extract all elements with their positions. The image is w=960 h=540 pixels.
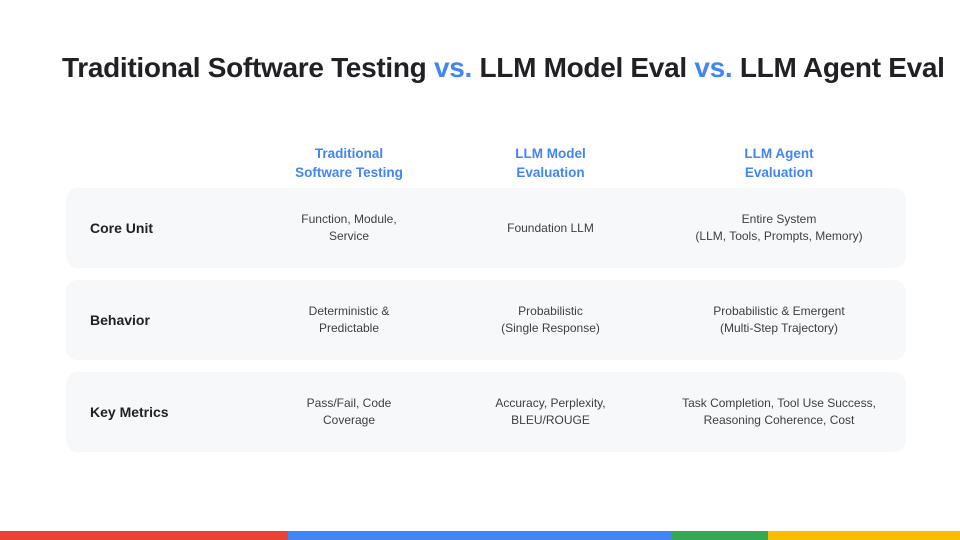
table-header-row: Traditional Software Testing LLM Model E… <box>66 136 906 188</box>
table-row: Core Unit Function, Module, Service Foun… <box>66 188 906 268</box>
column-header-line-1: Traditional <box>315 146 383 161</box>
cell-line-2: (Single Response) <box>449 320 652 337</box>
cell-line-1: Function, Module, <box>301 212 396 226</box>
cell-line-2: BLEU/ROUGE <box>449 412 652 429</box>
brand-color-bar <box>0 531 960 540</box>
column-header-line-2: Evaluation <box>652 163 906 182</box>
title-vs-1: vs. <box>434 52 472 83</box>
column-header-line-1: LLM Model <box>515 146 586 161</box>
cell-line-1: Task Completion, Tool Use Success, <box>682 396 876 410</box>
cell-line-1: Foundation LLM <box>507 221 594 235</box>
cell-line-2: (Multi-Step Trajectory) <box>652 320 906 337</box>
page-title: Traditional Software Testing vs. LLM Mod… <box>62 50 945 86</box>
column-header-llm-model-evaluation: LLM Model Evaluation <box>449 136 652 182</box>
title-part-3: LLM Agent Eval <box>732 52 944 83</box>
cell-line-1: Deterministic & <box>309 304 390 318</box>
cell-line-1: Accuracy, Perplexity, <box>495 396 605 410</box>
cell-line-2: Coverage <box>249 412 449 429</box>
cell-key-metrics-llm-model: Accuracy, Perplexity, BLEU/ROUGE <box>449 395 652 429</box>
cell-line-1: Probabilistic & Emergent <box>713 304 844 318</box>
cell-core-unit-llm-model: Foundation LLM <box>449 220 652 237</box>
row-label-core-unit: Core Unit <box>66 220 249 236</box>
title-vs-2: vs. <box>694 52 732 83</box>
column-header-line-2: Evaluation <box>449 163 652 182</box>
brand-bar-segment-red <box>0 531 288 540</box>
cell-core-unit-llm-agent: Entire System (LLM, Tools, Prompts, Memo… <box>652 211 906 245</box>
table-row: Behavior Deterministic & Predictable Pro… <box>66 280 906 360</box>
cell-line-1: Entire System <box>742 212 817 226</box>
cell-line-2: Predictable <box>249 320 449 337</box>
column-header-llm-agent-evaluation: LLM Agent Evaluation <box>652 136 906 182</box>
brand-bar-segment-green <box>672 531 768 540</box>
column-header-line-2: Software Testing <box>249 163 449 182</box>
cell-key-metrics-llm-agent: Task Completion, Tool Use Success, Reaso… <box>652 395 906 429</box>
slide-canvas: Traditional Software Testing vs. LLM Mod… <box>0 0 960 540</box>
row-label-key-metrics: Key Metrics <box>66 404 249 420</box>
title-part-2: LLM Model Eval <box>472 52 694 83</box>
brand-bar-segment-yellow <box>768 531 960 540</box>
cell-line-2: (LLM, Tools, Prompts, Memory) <box>652 228 906 245</box>
table-row: Key Metrics Pass/Fail, Code Coverage Acc… <box>66 372 906 452</box>
title-part-1: Traditional Software Testing <box>62 52 434 83</box>
column-header-line-1: LLM Agent <box>744 146 813 161</box>
cell-line-1: Pass/Fail, Code <box>307 396 392 410</box>
row-label-behavior: Behavior <box>66 312 249 328</box>
brand-bar-segment-blue <box>288 531 672 540</box>
cell-line-2: Reasoning Coherence, Cost <box>652 412 906 429</box>
cell-behavior-llm-agent: Probabilistic & Emergent (Multi-Step Tra… <box>652 303 906 337</box>
cell-key-metrics-traditional: Pass/Fail, Code Coverage <box>249 395 449 429</box>
comparison-table: Traditional Software Testing LLM Model E… <box>66 136 906 464</box>
cell-line-2: Service <box>249 228 449 245</box>
column-header-traditional-software-testing: Traditional Software Testing <box>249 136 449 182</box>
cell-core-unit-traditional: Function, Module, Service <box>249 211 449 245</box>
cell-behavior-llm-model: Probabilistic (Single Response) <box>449 303 652 337</box>
cell-behavior-traditional: Deterministic & Predictable <box>249 303 449 337</box>
cell-line-1: Probabilistic <box>518 304 583 318</box>
